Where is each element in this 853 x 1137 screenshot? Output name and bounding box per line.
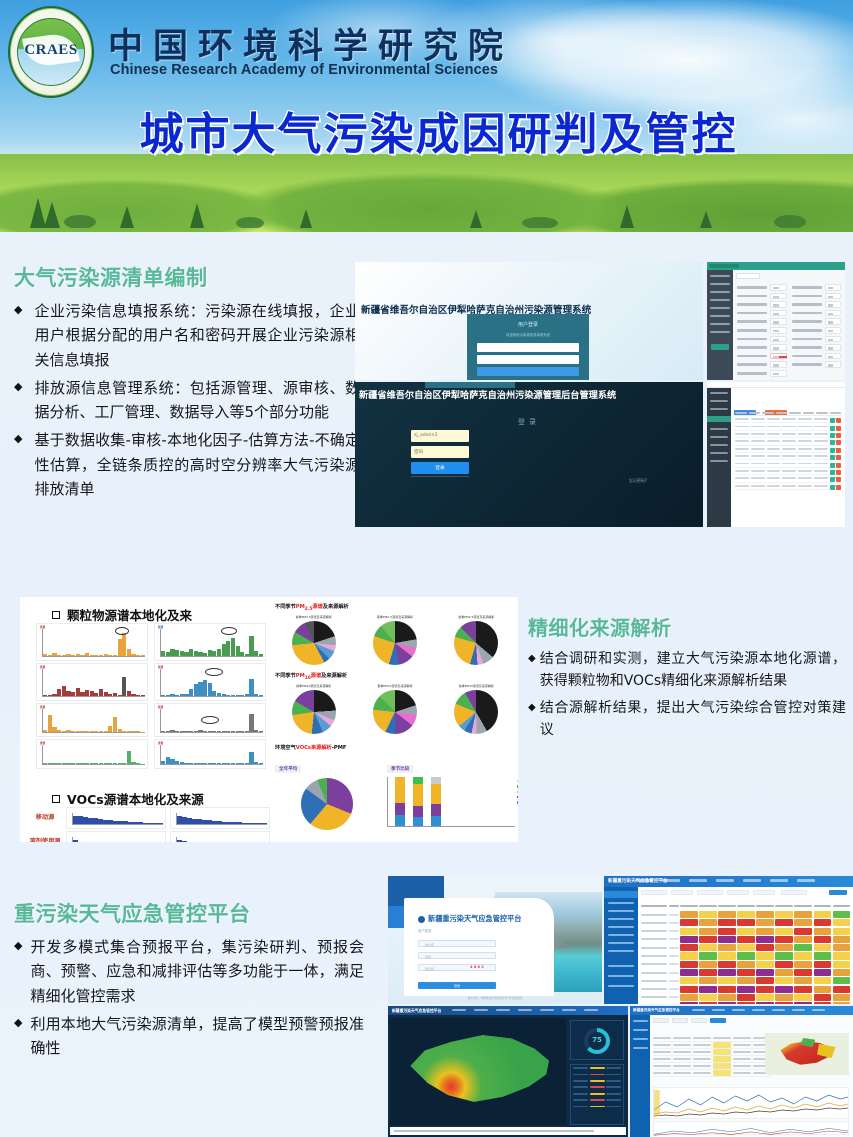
table-row[interactable] (734, 475, 842, 482)
password-input[interactable]: 密码 (418, 952, 496, 959)
voc-spectrum-heading-text: VOCs源谱本地化及来源 (67, 789, 204, 808)
login-button[interactable]: 登录 (418, 982, 496, 989)
source-apportionment-panel: 颗粒物源谱本地化及来 源谱 源谱 源谱 源谱 (20, 597, 518, 842)
tree-line-icon (0, 192, 853, 228)
page-title: 城市大气污染成因研判及管控 (0, 98, 853, 162)
voc-source-label: 移动源 (28, 814, 62, 821)
pie-chart (454, 621, 498, 665)
login-subtitle: 用户登录 (418, 928, 432, 933)
captcha-code: 4 6 8 2 (470, 965, 484, 969)
search-filter-bar[interactable] (734, 392, 842, 398)
top-nav[interactable] (692, 1009, 825, 1011)
table-row[interactable] (734, 438, 842, 445)
spectrum-chart: 源谱 (36, 739, 148, 769)
admin-password-input[interactable]: 密码 (411, 446, 469, 458)
app-header: 新疆重污染天气应急管控平台 (388, 1006, 628, 1015)
voc-pmf-heading: 环境空气VOCs来源解析-PMF (275, 744, 515, 751)
platform-title: 新疆重污染天气应急管控平台 (418, 914, 521, 924)
pie-chart (292, 621, 336, 665)
pie-cell: 春季PM2.5源谱及来源解析 (275, 615, 352, 667)
form-row (737, 360, 787, 369)
app-top-bar (707, 262, 845, 270)
form-row (737, 300, 787, 309)
trend-line-svg (654, 1088, 848, 1118)
pm-spectrum-heading-text: 颗粒物源谱本地化及来 (67, 605, 192, 624)
voc-spectrum-heading: VOCs源谱本地化及来源 (52, 789, 204, 808)
spectrum-chart: 源谱 (154, 739, 266, 769)
pmf-pie-block: 全年平均 (275, 755, 379, 830)
annotation-circle (205, 668, 223, 676)
grid-row (641, 911, 850, 918)
screenshot-admin-backend-login: 新疆省维吾尔自治区伊犁哈萨克自治州污染源管理后台管理系统 登录 sj_admin… (355, 382, 703, 527)
table-row[interactable] (653, 1056, 771, 1063)
list-item: ◆ 结合调研和实测，建立大气污染源本地化源谱，获得颗粒物和VOCs精细化来源解析… (528, 648, 846, 693)
pie-chart (292, 690, 336, 734)
screenshot-emergency-login: 新疆重污染天气应急管控平台 用户登录 用户名 密码 验证码 4 6 8 2 登录… (388, 876, 602, 1004)
pie-title: 秋季PM2.5源谱及来源解析 (438, 615, 515, 619)
section-1-title: 大气污染源清单编制 (14, 262, 360, 292)
voc-source-row: 移动源 (28, 807, 278, 829)
table-row[interactable] (734, 416, 842, 423)
list-item: ◆ 利用本地大气污染源清单，提高了模型预警预报准确性 (14, 1012, 364, 1061)
table-row[interactable] (734, 483, 842, 490)
app-title: 新疆重污染天气应急管控平台 (392, 1008, 441, 1014)
table-row[interactable] (734, 453, 842, 460)
spectrum-chart: 源谱 (36, 623, 148, 661)
admin-username-input[interactable]: sj_admin3 (411, 430, 469, 442)
diamond-bullet-icon: ◆ (14, 299, 22, 318)
spectrum-chart: 源谱 (36, 663, 148, 701)
voc-source-row: 溶剂使用源 (28, 831, 278, 842)
platform-logo-icon (418, 916, 425, 923)
forecast-body (638, 887, 853, 1004)
admin-password-value: 密码 (414, 449, 423, 455)
table-row[interactable] (653, 1063, 771, 1070)
table-row[interactable] (734, 460, 842, 467)
sidebar-nav[interactable] (604, 887, 638, 1004)
list-item: ◆ 开发多模式集合预报平台，集污染研判、预报会商、预警、应急和减排评估等多功能于… (14, 935, 364, 1008)
gauge-value: 75 (571, 1036, 623, 1044)
square-bullet-icon (52, 795, 60, 803)
trend-chart-secondary (653, 1121, 849, 1135)
pie-cell: 夏季PM2.5源谱及来源解析 (356, 615, 433, 667)
grid-header (641, 903, 850, 909)
sidebar-action-button[interactable] (711, 344, 729, 350)
diamond-bullet-icon: ◆ (528, 697, 536, 716)
login-footer: 技术支持：中国环境科学研究院大气环境研究所 (388, 996, 602, 1000)
bullet-text: 结合源解析结果，提出大气污染综合管控对策建议 (540, 697, 846, 742)
form-row (737, 352, 787, 361)
pmf-bar-block: 季节比较 其他源 植物排放源 (387, 755, 515, 827)
pie-title: 春季PM10源谱及来源解析 (275, 684, 352, 688)
chart-title: 源谱 (40, 625, 45, 629)
backend-system-title: 新疆省维吾尔自治区伊犁哈萨克自治州污染源管理后台管理系统 (359, 387, 616, 401)
bar-series (161, 747, 263, 764)
grid-row (641, 977, 850, 984)
grid-row (641, 952, 850, 959)
diamond-bullet-icon: ◆ (14, 935, 22, 954)
grid-row (641, 994, 850, 1001)
form-row (792, 326, 842, 335)
list-item: ◆ 企业污染信息填报系统：污染源在线填报，企业用户根据分配的用户名和密码开展企业… (14, 299, 360, 372)
trend-chart (653, 1087, 849, 1119)
section-1-text: 大气污染源清单编制 ◆ 企业污染信息填报系统：污染源在线填报，企业用户根据分配的… (14, 262, 360, 505)
table-row[interactable] (653, 1070, 771, 1077)
secondary-trend-svg (654, 1125, 848, 1137)
form-row (737, 283, 787, 292)
section-2-bullets: ◆ 结合调研和实测，建立大气污染源本地化源谱，获得颗粒物和VOCs精细化来源解析… (528, 648, 846, 742)
spectrum-chart: 源谱 (36, 703, 148, 737)
form-row (792, 292, 842, 301)
pm-spectra-grid: 源谱 源谱 源谱 源谱 源谱 源谱 (36, 623, 266, 783)
pmf-stacked-bar-chart: 其他源 植物排放源 溶剂使用源 工业排放-燃烧源 移动源 (387, 777, 515, 827)
screenshot-aqi-forecast-grid: 新疆重污染天气应急管控平台 (604, 876, 853, 1004)
tab-bar[interactable] (653, 1018, 726, 1023)
pm25-pie-row: 春季PM2.5源谱及来源解析 夏季PM2.5源谱及来源解析 秋季PM2.5源谱及… (275, 615, 515, 667)
pm10-pie-row: 春季PM10源谱及来源解析 夏季PM10源谱及来源解析 秋季PM10源谱及来源解… (275, 684, 515, 736)
chart-title: 源谱 (158, 741, 163, 745)
captcha-input[interactable]: 验证码 (418, 964, 496, 971)
pie-chart (373, 621, 417, 665)
table-sidebar-nav[interactable] (707, 388, 731, 527)
admin-username-value: sj_admin3 (414, 433, 437, 438)
app-header: 新疆重污染天气应急管控平台 (630, 1006, 853, 1015)
pie-cell: 秋季PM2.5源谱及来源解析 (438, 615, 515, 667)
grid-row (641, 969, 850, 976)
form-row (792, 335, 842, 344)
diamond-bullet-icon: ◆ (14, 376, 22, 395)
grid-row (641, 986, 850, 993)
section-3-bullets: ◆ 开发多模式集合预报平台，集污染研判、预报会商、预警、应急和减排评估等多功能于… (14, 935, 364, 1060)
voc-source-label: 溶剂使用源 (28, 838, 62, 842)
form-row (737, 335, 787, 344)
admin-login-label: 登录 (411, 465, 469, 471)
login-card-title: 用户登录 (467, 321, 589, 328)
pie-cell: 春季PM10源谱及来源解析 (275, 684, 352, 736)
list-item (571, 1103, 623, 1109)
grid-row (641, 961, 850, 968)
voc-chart (66, 831, 166, 842)
bullet-text: 开发多模式集合预报平台，集污染研判、预报会商、预警、应急和减排评估等多功能于一体… (30, 935, 364, 1008)
station-list[interactable] (570, 1064, 624, 1125)
form-row (792, 283, 842, 292)
table-row[interactable] (734, 446, 842, 453)
chart-title: 源谱 (158, 665, 163, 669)
bar-series (43, 747, 145, 764)
table-row[interactable] (734, 423, 842, 430)
craes-logo: CRAES (8, 6, 94, 98)
pie-cell: 夏季PM10源谱及来源解析 (356, 684, 433, 736)
form-body (733, 270, 845, 380)
username-input[interactable]: 用户名 (418, 940, 496, 947)
username-input[interactable] (477, 343, 579, 352)
top-nav[interactable] (635, 879, 815, 882)
list-item: ◆ 基于数据收集-审核-本地化因子-估算方法-不确定性估算，全链条质控的高时空分… (14, 428, 360, 501)
table-row[interactable] (734, 431, 842, 438)
admin-login-button[interactable]: 登录 (411, 462, 469, 474)
time-slider[interactable] (390, 1127, 626, 1135)
bullet-text: 利用本地大气污染源清单，提高了模型预警预报准确性 (30, 1012, 364, 1061)
diamond-bullet-icon: ◆ (14, 1012, 22, 1031)
pie-cell: 秋季PM10源谱及来源解析 (438, 684, 515, 736)
bar-spring (395, 777, 405, 826)
form-row (792, 300, 842, 309)
pie-title: 夏季PM10源谱及来源解析 (356, 684, 433, 688)
annotation-circle (201, 716, 219, 724)
pmf-bar-label: 季节比较 (387, 765, 413, 773)
chart-title: 源谱 (40, 705, 45, 709)
app-header: 新疆重污染天气应急管控平台 (604, 876, 853, 887)
spectrum-chart: 源谱 (154, 623, 266, 661)
pm-pie-section: 不同季节PM2.5源谱及来源解析 春季PM2.5源谱及来源解析 夏季PM2.5源… (275, 603, 515, 830)
diamond-bullet-icon: ◆ (14, 428, 22, 447)
spectrum-chart: 源谱 (154, 663, 266, 701)
logo-acronym: CRAES (8, 42, 94, 59)
grid-row (641, 936, 850, 943)
forecast-data-table (653, 1035, 771, 1077)
app-title: 新疆重污染天气应急管控平台 (633, 1008, 680, 1013)
chart-title: 源谱 (40, 741, 45, 745)
tab-enterprise-info[interactable] (736, 273, 760, 279)
pmf-pie-label: 全年平均 (275, 765, 301, 773)
screenshot-forecast-table: 新疆重污染天气应急管控平台 (630, 1006, 853, 1137)
chart-title: 源谱 (158, 625, 163, 629)
bullet-text: 基于数据收集-审核-本地化因子-估算方法-不确定性估算，全链条质控的高时空分辨率… (34, 428, 360, 501)
bullet-text: 企业污染信息填报系统：污染源在线填报，企业用户根据分配的用户名和密码开展企业污染… (34, 299, 360, 372)
backend-login-heading: 登录 (355, 417, 703, 427)
bullet-text: 结合调研和实测，建立大气污染源本地化源谱，获得颗粒物和VOCs精细化来源解析结果 (540, 648, 846, 693)
pmf-annual-pie (301, 778, 353, 830)
login-card-subtitle: 欢迎使用污染源信息填报系统 (467, 332, 589, 337)
table-row[interactable] (734, 468, 842, 475)
form-row (792, 317, 842, 326)
form-row (737, 317, 787, 326)
form-row (737, 309, 787, 318)
form-row (792, 360, 842, 369)
divider (411, 476, 469, 477)
bullet-text: 排放源信息管理系统：包括源管理、源审核、数据分析、工厂管理、数据导入等5个部分功… (34, 376, 360, 425)
form-row (792, 343, 842, 352)
pie-title: 春季PM2.5源谱及来源解析 (275, 615, 352, 619)
region-map[interactable] (765, 1033, 849, 1075)
aqi-color-grid (641, 911, 850, 1000)
section-2-text: 精细化来源解析 ◆ 结合调研和实测，建立大气污染源本地化源谱，获得颗粒物和VOC… (528, 612, 846, 746)
chart-title: 源谱 (40, 665, 45, 669)
login-card: 新疆重污染天气应急管控平台 用户登录 用户名 密码 验证码 4 6 8 2 登录 (404, 898, 554, 996)
list-item: ◆ 排放源信息管理系统：包括源管理、源审核、数据分析、工厂管理、数据导入等5个部… (14, 376, 360, 425)
login-button-label: 登录 (418, 984, 496, 988)
pm-spectrum-heading: 颗粒物源谱本地化及来 (52, 605, 192, 624)
grid-row (641, 919, 850, 926)
bar-series (43, 711, 145, 732)
login-card: 用户登录 欢迎使用污染源信息填报系统 (467, 314, 589, 380)
section-1-screenshots: 新疆省维吾尔自治区伊犁哈萨克自治州污染源管理系统 用户登录 欢迎使用污染源信息填… (355, 262, 845, 527)
table-row[interactable] (653, 1049, 771, 1056)
square-bullet-icon (52, 611, 60, 619)
xinjiang-pollution-heatmap (408, 1027, 552, 1113)
voc-pmf-charts: 全年平均 季节比较 (275, 755, 515, 830)
form-row (737, 369, 787, 378)
map-canvas[interactable] (390, 1018, 566, 1125)
section-1-bullets: ◆ 企业污染信息填报系统：污染源在线填报，企业用户根据分配的用户名和密码开展企业… (14, 299, 360, 501)
screenshot-pollution-source-login: 新疆省维吾尔自治区伊犁哈萨克自治州污染源管理系统 用户登录 欢迎使用污染源信息填… (355, 262, 703, 380)
screenshot-source-data-table (707, 382, 845, 527)
diamond-bullet-icon: ◆ (528, 648, 536, 667)
grid-row (641, 1002, 850, 1004)
pie-title: 秋季PM10源谱及来源解析 (438, 684, 515, 688)
aqi-gauge: 75 (570, 1020, 624, 1060)
voc-chart (66, 807, 166, 829)
form-row (737, 326, 787, 335)
bar-series (43, 631, 145, 656)
pie-chart (373, 690, 417, 734)
login-button[interactable] (477, 367, 579, 376)
poster-page: CRAES 中国环境科学研究院 Chinese Research Academy… (0, 0, 853, 1137)
bar-series (73, 815, 163, 824)
pie-chart (454, 690, 498, 734)
voc-chart (170, 831, 270, 842)
app-name-placeholder (709, 264, 739, 268)
voc-chart (170, 807, 270, 829)
form-row (792, 309, 842, 318)
filter-bar[interactable] (641, 890, 850, 897)
data-table (734, 410, 842, 521)
forgot-password-link[interactable]: 忘记密码? (629, 478, 647, 484)
sidebar-nav[interactable] (630, 1015, 650, 1137)
form-row (737, 292, 787, 301)
section-2-title: 精细化来源解析 (528, 612, 846, 641)
bar-series (43, 671, 145, 696)
spectrum-chart: 源谱 (154, 703, 266, 737)
section-3-screenshots: 新疆重污染天气应急管控平台 用户登录 用户名 密码 验证码 4 6 8 2 登录… (388, 876, 853, 1137)
top-nav[interactable] (452, 1009, 598, 1012)
password-input[interactable] (477, 355, 579, 364)
form-grid (737, 283, 841, 378)
header-banner: CRAES 中国环境科学研究院 Chinese Research Academy… (0, 0, 853, 232)
pm25-pie-heading: 不同季节PM2.5源谱及来源解析 (275, 603, 515, 612)
table-row[interactable] (653, 1042, 771, 1049)
table-body (650, 1015, 853, 1137)
bar-autumn (431, 777, 441, 826)
username-placeholder: 用户名 (425, 943, 434, 947)
password-placeholder: 密码 (425, 955, 431, 959)
section-3-title: 重污染天气应急管控平台 (14, 898, 364, 928)
bar-series (177, 815, 267, 824)
captcha-placeholder: 验证码 (425, 967, 434, 971)
annotation-circle (221, 627, 237, 635)
organization-name-en: Chinese Research Academy of Environmenta… (110, 62, 498, 78)
table-body (731, 388, 845, 527)
pm10-pie-heading: 不同季节PM10源谱及来源解析 (275, 672, 515, 681)
sidebar-nav[interactable] (707, 270, 733, 380)
platform-title-text: 新疆重污染天气应急管控平台 (428, 914, 521, 924)
table-header (653, 1035, 771, 1042)
section-3-text: 重污染天气应急管控平台 ◆ 开发多模式集合预报平台，集污染研判、预报会商、预警、… (14, 898, 364, 1064)
bar-series (177, 839, 267, 842)
form-row (792, 352, 842, 361)
grid-row (641, 928, 850, 935)
form-row (737, 343, 787, 352)
grid-row (641, 944, 850, 951)
pmf-legend: 其他源 植物排放源 溶剂使用源 工业排放-燃烧源 移动源 (517, 779, 518, 805)
screenshot-forecast-map: 新疆重污染天气应急管控平台 75 (388, 1006, 628, 1137)
bar-series (161, 631, 263, 656)
chart-title: 源谱 (158, 705, 163, 709)
pie-title: 夏季PM2.5源谱及来源解析 (356, 615, 433, 619)
screenshot-enterprise-form (707, 262, 845, 380)
voc-spectra-grid: 移动源 溶剂使用源 固定燃烧源 (28, 807, 278, 842)
list-item: ◆ 结合源解析结果，提出大气污染综合管控对策建议 (528, 697, 846, 742)
bar-summer (413, 777, 423, 826)
bar-series (73, 839, 163, 842)
annotation-circle (115, 627, 129, 635)
